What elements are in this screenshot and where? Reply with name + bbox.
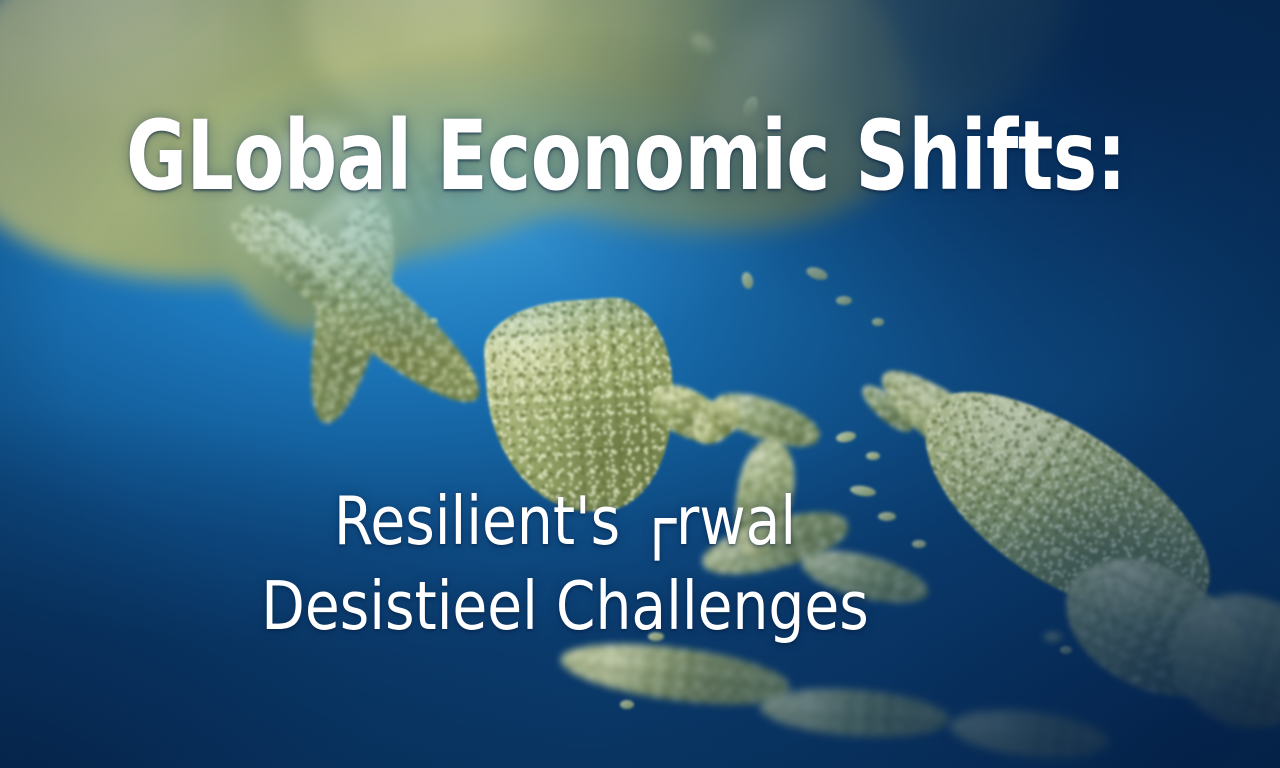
title-card: GLobal Economic Shifts: Resilient's ┌rwa… <box>0 0 1280 768</box>
subtitle-block: Resilient's ┌rwal Desistieel Challenges <box>0 478 1130 650</box>
subtitle-line-1: Resilient's ┌rwal <box>34 478 1096 565</box>
corner-bracket-icon: ┌ <box>638 478 676 565</box>
subtitle-line-1-prefix: Resilient's <box>334 482 638 560</box>
subtitle-line-2: Desistieel Challenges <box>34 563 1096 650</box>
subtitle-line-1-suffix: rwal <box>676 482 796 560</box>
page-title: GLobal Economic Shifts: <box>126 108 1020 204</box>
headline-block: GLobal Economic Shifts: <box>126 108 1166 204</box>
